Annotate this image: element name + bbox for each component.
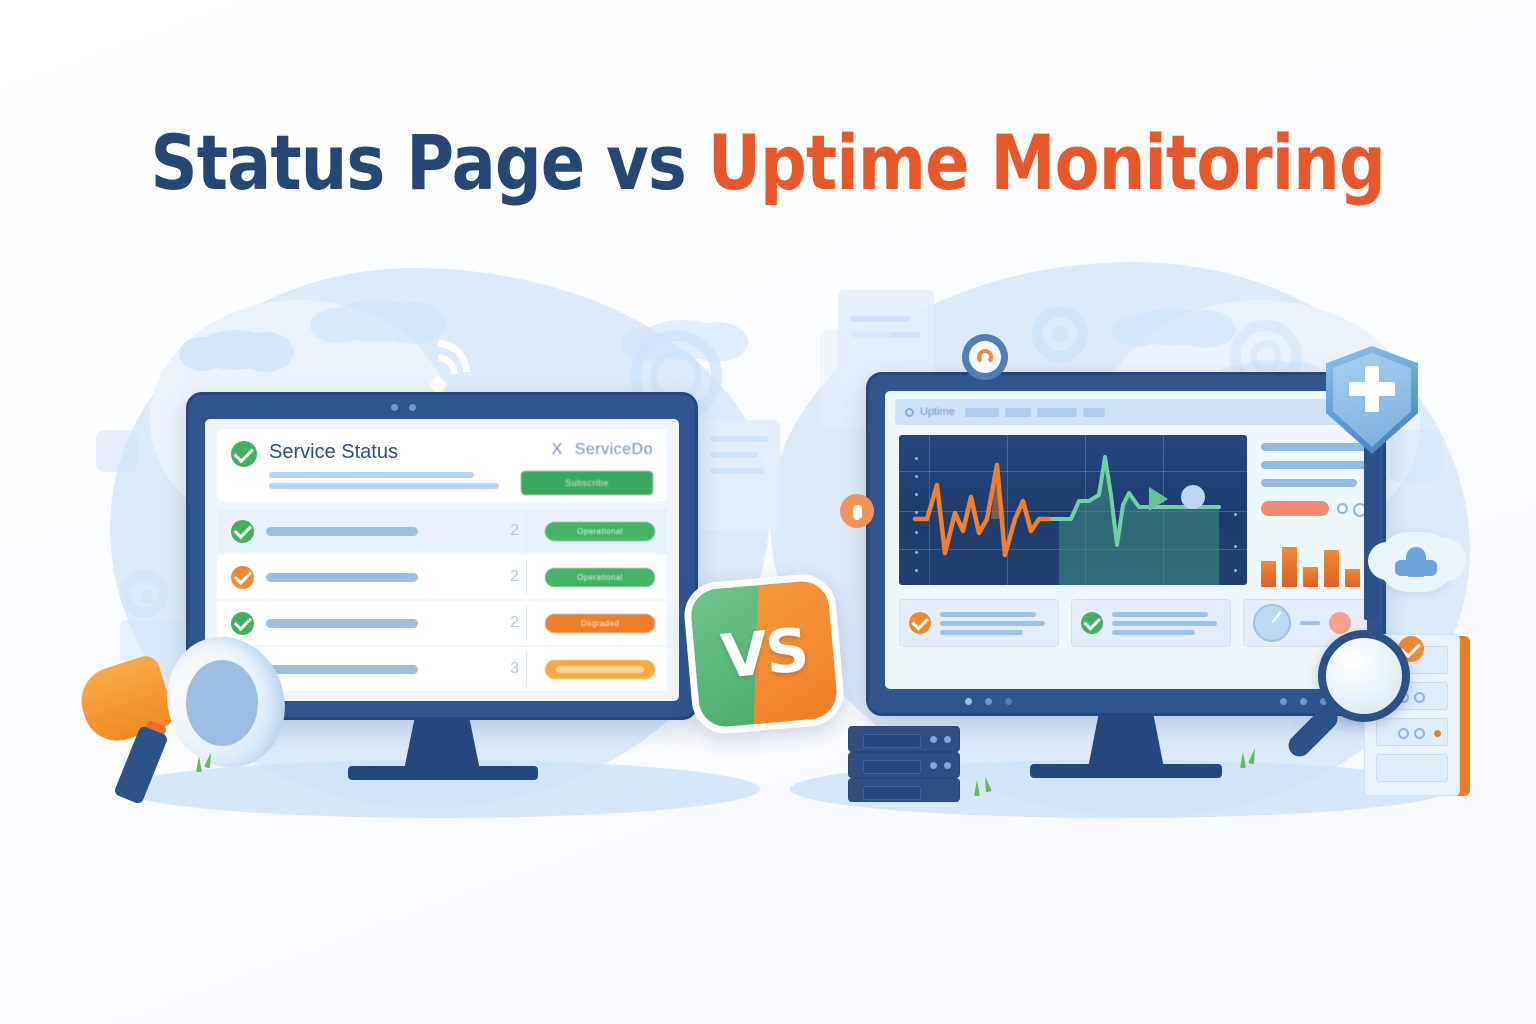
- right-indicator-dot-3: [1005, 698, 1012, 705]
- background-doc-line-2: [710, 452, 758, 458]
- right-indicator-dot-4: [1280, 698, 1287, 705]
- left-screen: Service Status X ServiceDo Subscribe: [205, 419, 679, 701]
- check-circle-green-icon: [1081, 612, 1103, 634]
- left-camera-dot-1: [391, 404, 398, 411]
- rack-led-3: [1398, 728, 1409, 739]
- illustration-canvas: Status Page vs Uptime Monitoring Service…: [0, 0, 1536, 1024]
- right-monitor-stand-neck: [1088, 714, 1164, 768]
- grass-tuft-1: [196, 756, 202, 772]
- background-cloud-4: [1130, 308, 1214, 346]
- bar-5: [1345, 569, 1360, 587]
- background-shape-2: [96, 430, 138, 472]
- check-circle-green-icon: [231, 612, 254, 635]
- lock-icon: [840, 494, 874, 528]
- table-row[interactable]: 2 Operational: [217, 509, 667, 553]
- left-monitor-stand-base: [348, 766, 538, 780]
- alert-pill: [1261, 501, 1329, 516]
- background-doc-line-4: [850, 316, 910, 322]
- vs-badge-label: VS: [689, 579, 839, 729]
- page-title-part1: Status Page vs: [151, 118, 708, 207]
- ring-icon-1: [1337, 503, 1348, 514]
- rack-led-2: [1414, 692, 1425, 703]
- dashboard-topbar[interactable]: Uptime: [895, 399, 1357, 425]
- service-status-header: Service Status X ServiceDo Subscribe: [217, 429, 667, 501]
- circle-outline-icon: [905, 408, 914, 417]
- right-screen: Uptime: [885, 391, 1367, 689]
- bar-3: [1303, 567, 1318, 587]
- background-gear-4: [120, 570, 168, 618]
- subscribe-button[interactable]: Subscribe: [521, 471, 653, 495]
- row-count: 3: [510, 660, 519, 678]
- status-badge: Operational: [545, 522, 655, 541]
- table-row[interactable]: 2 Degraded: [217, 601, 667, 645]
- table-row[interactable]: 2 Operational: [217, 555, 667, 599]
- right-indicator-dot-2: [985, 698, 992, 705]
- row-count: 2: [510, 522, 519, 540]
- check-circle-orange-icon: [231, 566, 254, 589]
- right-monitor-stand-base: [1030, 764, 1222, 778]
- stat-card-warning[interactable]: [899, 599, 1059, 647]
- play-icon[interactable]: [1149, 487, 1168, 511]
- status-badge: Operational: [545, 568, 655, 587]
- brand-label: X ServiceDo: [552, 441, 653, 459]
- chart-marker-circle: [1181, 485, 1205, 509]
- background-shape-3: [1390, 430, 1442, 482]
- vs-badge: VS: [682, 572, 847, 737]
- table-row[interactable]: 3: [217, 647, 667, 691]
- page-title: Status Page vs Uptime Monitoring: [0, 118, 1536, 207]
- grass-tuft-3: [974, 780, 980, 796]
- dashboard-title: Uptime: [920, 406, 955, 418]
- right-indicator-dot-1: [965, 698, 972, 705]
- background-cloud-1: [196, 330, 274, 370]
- side-line-3: [1261, 479, 1357, 487]
- left-camera-dot-2: [409, 404, 416, 411]
- status-badge: Degraded: [545, 614, 655, 633]
- background-cloud-2: [330, 300, 422, 342]
- brand-name: ServiceDo: [575, 441, 653, 458]
- check-circle-green-icon: [231, 441, 257, 467]
- background-doc-line-3: [710, 468, 764, 474]
- row-count: 2: [510, 614, 519, 632]
- rack-led-4: [1414, 728, 1425, 739]
- side-line-2: [1261, 461, 1367, 469]
- stat-card-ok[interactable]: [1071, 599, 1231, 647]
- background-doc-line-1: [710, 436, 768, 442]
- status-badge: [545, 660, 655, 679]
- check-circle-orange-icon: [909, 612, 931, 634]
- left-monitor-stand-neck: [404, 718, 480, 770]
- side-line-1: [1261, 443, 1367, 451]
- bar-1: [1261, 561, 1276, 587]
- rack-led-active: [1434, 730, 1441, 737]
- rack-row-4: [1376, 754, 1448, 782]
- check-circle-green-icon: [231, 520, 254, 543]
- row-count: 2: [510, 568, 519, 586]
- rocket-cloud-icon: [1378, 532, 1454, 592]
- bar-2: [1282, 547, 1297, 587]
- gauge-icon: [1253, 604, 1291, 642]
- background-gear-2: [1032, 306, 1088, 362]
- gear-badge-icon: [962, 334, 1008, 380]
- page-title-part2: Uptime Monitoring: [708, 118, 1385, 207]
- grass-tuft-5: [1240, 752, 1246, 768]
- mini-bar-chart: [1261, 531, 1367, 587]
- chart-series-incident: [899, 435, 1247, 585]
- right-indicator-dot-5: [1300, 698, 1307, 705]
- right-monitor-bezel: Uptime: [866, 372, 1386, 716]
- phone-icon: [1329, 612, 1351, 634]
- response-time-chart: [899, 435, 1247, 585]
- bar-4: [1324, 550, 1339, 587]
